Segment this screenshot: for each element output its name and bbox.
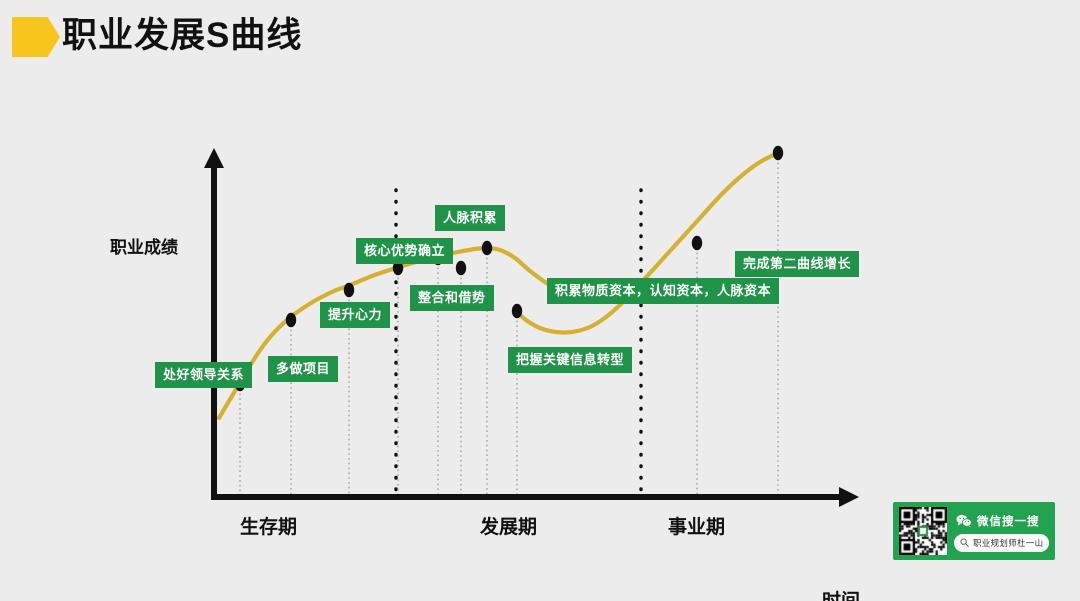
y-axis-label: 职业成绩: [110, 233, 178, 258]
annotation-tag-m3: 提升心力: [320, 302, 390, 328]
slide-canvas: 职业发展S曲线 职业成绩 时间 生存期发展期事业期 处好领导关系多做项目提升心力…: [0, 0, 1080, 601]
stage-divider-group: [396, 190, 641, 497]
x-axis-arrow-icon: [839, 487, 859, 507]
annotation-tag-m10: 完成第二曲线增长: [735, 251, 859, 277]
qr-code[interactable]: [899, 507, 947, 555]
page-title: 职业发展S曲线: [62, 12, 302, 60]
stage-label-3: 事业期: [668, 512, 725, 539]
data-point-m6[interactable]: [456, 261, 466, 275]
axes-group: [204, 148, 859, 507]
annotation-tag-m9: 积累物质资本，认知资本，人脉资本: [547, 278, 779, 304]
x-axis-label: 时间: [822, 586, 860, 601]
wechat-search-text: 职业规划师杜一山: [973, 537, 1043, 549]
annotation-tag-m2: 多做项目: [268, 356, 338, 382]
wechat-brand-label: 微信搜一搜: [977, 513, 1040, 529]
annotation-tag-m7: 人脉积累: [435, 205, 505, 231]
data-point-m8[interactable]: [512, 304, 522, 318]
data-point-m2[interactable]: [286, 313, 296, 327]
annotation-tag-m8: 把握关键信息转型: [508, 347, 632, 373]
curve-series-2: [515, 153, 778, 333]
annotation-tag-m1: 处好领导关系: [155, 362, 252, 388]
wechat-icon: [956, 514, 972, 528]
wechat-card-body: 微信搜一搜 职业规划师杜一山: [954, 507, 1049, 555]
wechat-promo-card[interactable]: 微信搜一搜 职业规划师杜一山: [893, 502, 1055, 560]
data-point-m7[interactable]: [482, 241, 492, 255]
stage-label-1: 生存期: [240, 512, 297, 539]
y-axis-arrow-icon: [204, 148, 224, 168]
data-point-m10[interactable]: [773, 146, 783, 160]
stage-label-2: 发展期: [480, 512, 537, 539]
data-point-m3[interactable]: [344, 283, 354, 297]
slide-header: 职业发展S曲线: [0, 0, 1080, 78]
wechat-search-box[interactable]: 职业规划师杜一山: [954, 534, 1049, 552]
wechat-brand-row: 微信搜一搜: [954, 511, 1049, 531]
header-arrow-icon: [12, 17, 60, 57]
search-icon: [960, 538, 969, 547]
annotation-tag-m4: 核心优势确立: [356, 238, 453, 264]
data-point-m9[interactable]: [692, 236, 702, 250]
annotation-tag-m5: 整合和借势: [410, 285, 494, 311]
